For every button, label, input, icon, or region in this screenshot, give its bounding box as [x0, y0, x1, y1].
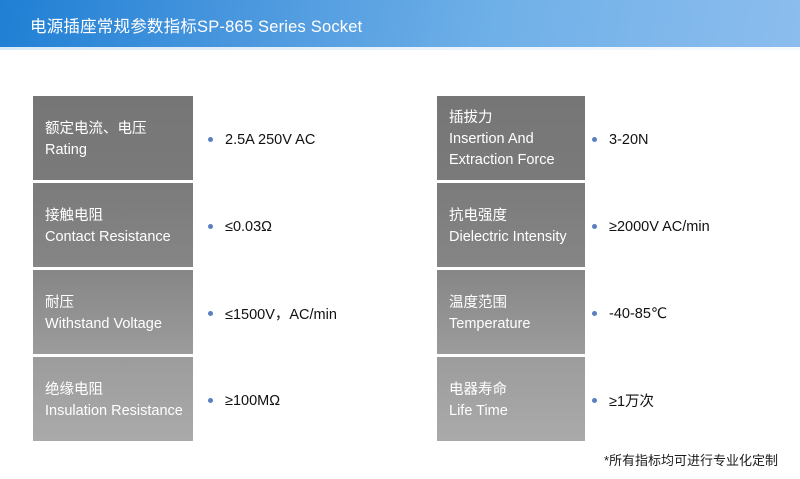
spec-label-en: Temperature: [449, 314, 585, 335]
spec-value-text: ≥100MΩ: [225, 393, 280, 409]
spec-label-en-line2: Extraction Force: [449, 150, 585, 171]
spec-row: 电器寿命 Life Time ≥1万次: [437, 357, 792, 444]
header-bar: 电源插座常规参数指标SP-865 Series Socket: [0, 0, 800, 47]
bullet-icon: [592, 398, 597, 403]
spec-label-en: Rating: [45, 140, 193, 161]
page-title: 电源插座常规参数指标SP-865 Series Socket: [30, 13, 362, 37]
spec-value-withstand-voltage: ≤1500V，AC/min: [208, 270, 337, 357]
spec-value-text: -40-85℃: [609, 306, 667, 322]
spec-row: 温度范围 Temperature -40-85℃: [437, 270, 792, 357]
spec-label-en: Withstand Voltage: [45, 314, 193, 335]
spec-value-text: ≤0.03Ω: [225, 219, 272, 235]
spec-label-cn: 电器寿命: [449, 380, 585, 401]
spec-label-cn: 额定电流、电压: [45, 119, 193, 140]
bullet-icon: [208, 137, 213, 142]
spec-value-life-time: ≥1万次: [592, 357, 654, 444]
spec-label-insertion-extraction-force: 插拔力 Insertion And Extraction Force: [437, 96, 585, 183]
bullet-icon: [208, 398, 213, 403]
bullet-icon: [208, 224, 213, 229]
bullet-icon: [592, 311, 597, 316]
spec-label-en: Life Time: [449, 401, 585, 422]
spec-label-rating: 额定电流、电压 Rating: [33, 96, 193, 183]
spec-label-cn: 抗电强度: [449, 206, 585, 227]
spec-value-text: 2.5A 250V AC: [225, 132, 315, 148]
spec-label-temperature: 温度范围 Temperature: [437, 270, 585, 357]
spec-row: 接触电阻 Contact Resistance ≤0.03Ω: [33, 183, 433, 270]
spec-row: 抗电强度 Dielectric Intensity ≥2000V AC/min: [437, 183, 792, 270]
spec-value-insulation-resistance: ≥100MΩ: [208, 357, 280, 444]
footnote-customization-note: *所有指标均可进行专业化定制: [604, 450, 778, 469]
spec-label-cn: 接触电阻: [45, 206, 193, 227]
spec-row: 插拔力 Insertion And Extraction Force 3-20N: [437, 96, 792, 183]
bullet-icon: [592, 137, 597, 142]
spec-value-temperature: -40-85℃: [592, 270, 667, 357]
spec-row: 额定电流、电压 Rating 2.5A 250V AC: [33, 96, 433, 183]
spec-label-life-time: 电器寿命 Life Time: [437, 357, 585, 444]
spec-value-dielectric-intensity: ≥2000V AC/min: [592, 183, 710, 270]
spec-row: 耐压 Withstand Voltage ≤1500V，AC/min: [33, 270, 433, 357]
spec-value-contact-resistance: ≤0.03Ω: [208, 183, 272, 270]
spec-label-contact-resistance: 接触电阻 Contact Resistance: [33, 183, 193, 270]
header-underline-divider: [0, 47, 800, 50]
spec-label-insulation-resistance: 绝缘电阻 Insulation Resistance: [33, 357, 193, 444]
spec-label-withstand-voltage: 耐压 Withstand Voltage: [33, 270, 193, 357]
spec-value-text: ≥2000V AC/min: [609, 219, 710, 235]
spec-label-cn: 绝缘电阻: [45, 380, 193, 401]
spec-value-text: 3-20N: [609, 132, 649, 148]
spec-label-cn: 耐压: [45, 293, 193, 314]
spec-label-en: Dielectric Intensity: [449, 227, 585, 248]
specification-table: 额定电流、电压 Rating 2.5A 250V AC 接触电阻 Contact…: [0, 96, 800, 441]
bullet-icon: [208, 311, 213, 316]
spec-value-rating: 2.5A 250V AC: [208, 96, 315, 183]
spec-row: 绝缘电阻 Insulation Resistance ≥100MΩ: [33, 357, 433, 444]
spec-column-right: 插拔力 Insertion And Extraction Force 3-20N…: [437, 96, 792, 441]
spec-label-en: Insulation Resistance: [45, 401, 193, 422]
spec-label-en: Contact Resistance: [45, 227, 193, 248]
spec-label-cn: 插拔力: [449, 108, 585, 129]
spec-label-en: Insertion And: [449, 129, 585, 150]
spec-value-text: ≥1万次: [609, 390, 654, 411]
spec-column-left: 额定电流、电压 Rating 2.5A 250V AC 接触电阻 Contact…: [33, 96, 433, 441]
spec-label-cn: 温度范围: [449, 293, 585, 314]
spec-label-dielectric-intensity: 抗电强度 Dielectric Intensity: [437, 183, 585, 270]
bullet-icon: [592, 224, 597, 229]
spec-value-text: ≤1500V，AC/min: [225, 303, 337, 324]
spec-value-insertion-extraction-force: 3-20N: [592, 96, 649, 183]
